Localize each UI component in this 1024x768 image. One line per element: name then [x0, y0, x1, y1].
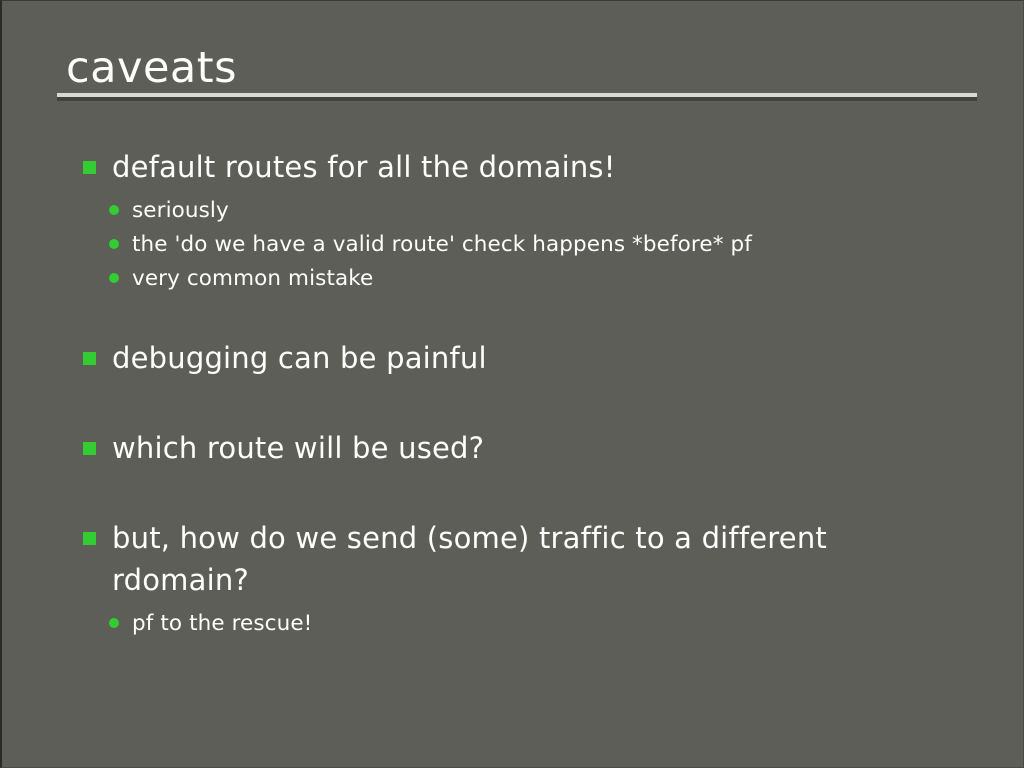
square-bullet-icon: [83, 352, 96, 365]
bullet-group: default routes for all the domains! seri…: [2, 146, 1024, 296]
bullet-item-level2: very common mistake: [2, 262, 1024, 296]
bullet-item-level1: default routes for all the domains!: [2, 146, 1024, 188]
bullet-level2-label: the 'do we have a valid route' check hap…: [132, 228, 1024, 262]
bullet-item-level2: seriously: [2, 194, 1024, 228]
dot-bullet-icon: [109, 618, 119, 628]
bullet-level2-label: seriously: [132, 194, 1024, 228]
bullet-item-level1: debugging can be painful: [2, 337, 1024, 379]
dot-bullet-icon: [109, 239, 119, 249]
page-title: caveats: [66, 43, 237, 93]
bullet-level2-label: very common mistake: [132, 262, 1024, 296]
bullet-level2-label: pf to the rescue!: [132, 607, 1024, 641]
sub-bullet-list: pf to the rescue!: [2, 607, 1024, 641]
bullet-item-level2: the 'do we have a valid route' check hap…: [2, 228, 1024, 262]
dot-bullet-icon: [109, 205, 119, 215]
square-bullet-icon: [83, 442, 96, 455]
bullet-group: which route will be used?: [2, 427, 1024, 469]
spacer: [2, 379, 1024, 427]
bullet-level1-label: which route will be used?: [112, 427, 912, 469]
bullet-item-level1: but, how do we send (some) traffic to a …: [2, 517, 1024, 601]
slide-body: default routes for all the domains! seri…: [2, 146, 1024, 641]
presentation-slide: caveats default routes for all the domai…: [0, 0, 1024, 768]
sub-bullet-list: seriously the 'do we have a valid route'…: [2, 194, 1024, 296]
square-bullet-icon: [83, 532, 96, 545]
bullet-item-level2: pf to the rescue!: [2, 607, 1024, 641]
spacer: [2, 469, 1024, 517]
bullet-item-level1: which route will be used?: [2, 427, 1024, 469]
spacer: [2, 296, 1024, 337]
bullet-level1-label: default routes for all the domains!: [112, 146, 912, 188]
bullet-group: but, how do we send (some) traffic to a …: [2, 517, 1024, 641]
square-bullet-icon: [83, 161, 96, 174]
bullet-group: debugging can be painful: [2, 337, 1024, 379]
title-divider: [57, 93, 977, 97]
bullet-level1-label: but, how do we send (some) traffic to a …: [112, 517, 912, 601]
bullet-level1-label: debugging can be painful: [112, 337, 912, 379]
dot-bullet-icon: [109, 273, 119, 283]
